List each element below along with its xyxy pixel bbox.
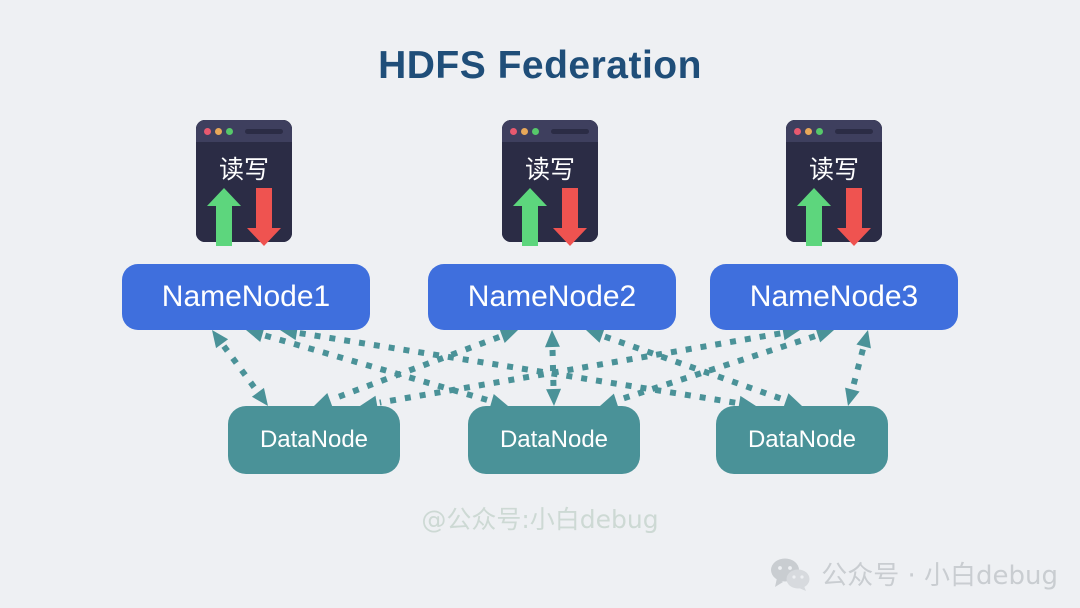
link-arrowhead [499,329,518,343]
namenode-box-2[interactable]: NameNode2 [428,264,676,330]
window-maximize-dot-icon [226,128,233,135]
link-arrowhead [586,329,605,343]
browser-titlebar [196,120,292,142]
link-arrowhead [545,330,560,347]
link-line [333,337,500,399]
datanode-box-3[interactable]: DataNode [716,406,888,474]
window-minimize-dot-icon [215,128,222,135]
diagram-canvas: HDFS Federation 读写 [0,0,1080,608]
upload-arrow-icon [513,188,547,246]
address-bar-icon [835,129,873,134]
upload-arrow-icon [207,188,241,246]
client-label-2: 读写 [502,150,598,186]
client-icon-3: 读写 [786,120,882,242]
link-line [553,350,554,386]
datanode-label-3: DataNode [748,426,856,454]
window-close-dot-icon [510,128,517,135]
wechat-icon [770,557,810,591]
upload-arrow-icon [797,188,831,246]
page-title: HDFS Federation [0,44,1080,88]
client-arrows-1 [196,188,292,250]
link-arrowhead [845,388,860,406]
link-line [265,336,489,401]
namenode-box-1[interactable]: NameNode1 [122,264,370,330]
client-label-3: 读写 [786,150,882,186]
link-arrowhead [546,389,561,406]
namenode-label-3: NameNode3 [750,280,918,314]
client-label-1: 读写 [196,150,292,186]
window-minimize-dot-icon [521,128,528,135]
address-bar-icon [551,129,589,134]
datanode-box-1[interactable]: DataNode [228,406,400,474]
download-arrow-icon [553,188,587,246]
namenode-label-2: NameNode2 [468,280,636,314]
download-arrow-icon [247,188,281,246]
link-line [619,336,815,400]
address-bar-icon [245,129,283,134]
client-arrows-2 [502,188,598,250]
link-line [853,349,863,386]
link-line [605,337,783,400]
namenode-label-1: NameNode1 [162,280,330,314]
center-watermark: @公众号:小白debug [0,500,1080,536]
link-arrowhead [212,330,228,348]
link-arrowhead [314,393,333,407]
link-line [224,346,256,390]
browser-titlebar [502,120,598,142]
datanode-label-1: DataNode [260,426,368,454]
datanode-label-2: DataNode [500,426,608,454]
window-minimize-dot-icon [805,128,812,135]
window-maximize-dot-icon [532,128,539,135]
link-line [300,333,737,403]
link-arrowhead [816,328,834,342]
namenode-box-3[interactable]: NameNode3 [710,264,958,330]
wechat-badge: 公众号 · 小白debug [770,555,1058,592]
browser-titlebar [786,120,882,142]
client-icon-2: 读写 [502,120,598,242]
wechat-badge-label: 公众号 · 小白debug [821,555,1058,592]
client-arrows-3 [786,188,882,250]
link-arrowhead [252,388,268,406]
window-close-dot-icon [204,128,211,135]
link-line [380,333,781,402]
link-arrowhead [856,330,871,348]
datanode-box-2[interactable]: DataNode [468,406,640,474]
client-icon-1: 读写 [196,120,292,242]
window-maximize-dot-icon [816,128,823,135]
download-arrow-icon [837,188,871,246]
window-close-dot-icon [794,128,801,135]
